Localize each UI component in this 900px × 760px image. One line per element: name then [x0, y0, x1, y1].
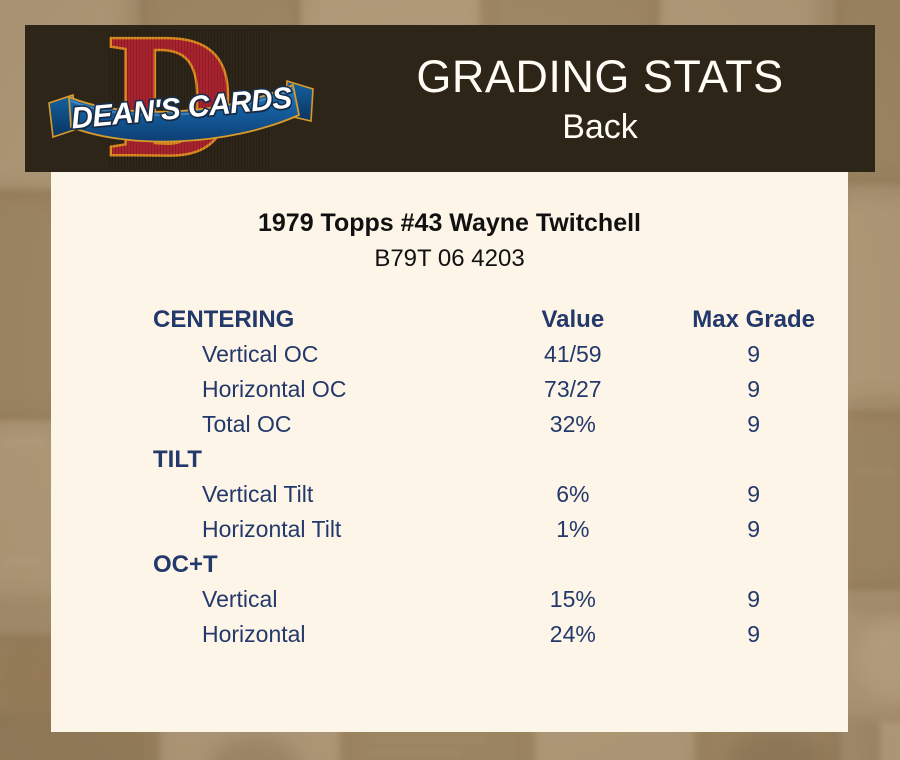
stats-row-label: Vertical OC: [152, 337, 480, 372]
stats-row-label: Horizontal: [152, 617, 480, 652]
stats-spacer-cell: [665, 442, 842, 477]
stats-column-header-max-grade: Max Grade: [665, 302, 842, 337]
logo-ribbon-text-wrap: DEAN'S CARDS: [47, 75, 317, 145]
stats-row-value: 6%: [480, 477, 665, 512]
stats-row: Vertical15%9: [152, 582, 842, 617]
stats-row-max-grade: 9: [665, 407, 842, 442]
stats-column-header-value: Value: [480, 302, 665, 337]
stats-row-label: Horizontal OC: [152, 372, 480, 407]
card-code: B79T 06 4203: [51, 244, 848, 274]
stats-row-max-grade: 9: [665, 582, 842, 617]
stats-row-value: 15%: [480, 582, 665, 617]
stats-section-label: CENTERING: [152, 302, 480, 337]
page-title: GRADING STATS: [416, 51, 783, 103]
stats-row-value: 32%: [480, 407, 665, 442]
stats-row-label: Vertical: [152, 582, 480, 617]
stats-section-row: CENTERINGValueMax Grade: [152, 302, 842, 337]
stats-row-value: 24%: [480, 617, 665, 652]
stats-row: Horizontal Tilt1%9: [152, 512, 842, 547]
stats-row-value: 41/59: [480, 337, 665, 372]
stats-spacer-cell: [665, 547, 842, 582]
card-title: 1979 Topps #43 Wayne Twitchell: [51, 208, 848, 238]
stats-row-value: 73/27: [480, 372, 665, 407]
logo-ribbon-text: DEAN'S CARDS: [70, 81, 293, 136]
stats-spacer-cell: [480, 442, 665, 477]
deans-cards-logo[interactable]: D: [47, 27, 317, 170]
stats-row-max-grade: 9: [665, 337, 842, 372]
content-panel: 1979 Topps #43 Wayne Twitchell B79T 06 4…: [51, 172, 848, 732]
stats-row-max-grade: 9: [665, 477, 842, 512]
grading-stats-page: D: [0, 0, 900, 760]
stats-section-row: TILT: [152, 442, 842, 477]
stats-row-max-grade: 9: [665, 512, 842, 547]
stats-spacer-cell: [480, 547, 665, 582]
stats-row: Vertical Tilt6%9: [152, 477, 842, 512]
stats-row: Horizontal OC73/279: [152, 372, 842, 407]
page-subtitle: Back: [562, 107, 638, 147]
stats-row-label: Horizontal Tilt: [152, 512, 480, 547]
stats-row-label: Vertical Tilt: [152, 477, 480, 512]
stats-row-label: Total OC: [152, 407, 480, 442]
stats-section-row: OC+T: [152, 547, 842, 582]
stats-section-label: TILT: [152, 442, 480, 477]
grading-stats-table: CENTERINGValueMax GradeVertical OC41/599…: [152, 302, 842, 652]
stats-row-value: 1%: [480, 512, 665, 547]
header-title-group: GRADING STATS Back: [325, 25, 875, 172]
stats-section-label: OC+T: [152, 547, 480, 582]
stats-row: Horizontal24%9: [152, 617, 842, 652]
page-header: D: [25, 25, 875, 172]
stats-row-max-grade: 9: [665, 372, 842, 407]
stats-row-max-grade: 9: [665, 617, 842, 652]
logo-ribbon: DEAN'S CARDS: [47, 75, 317, 145]
stats-row: Total OC32%9: [152, 407, 842, 442]
stats-row: Vertical OC41/599: [152, 337, 842, 372]
